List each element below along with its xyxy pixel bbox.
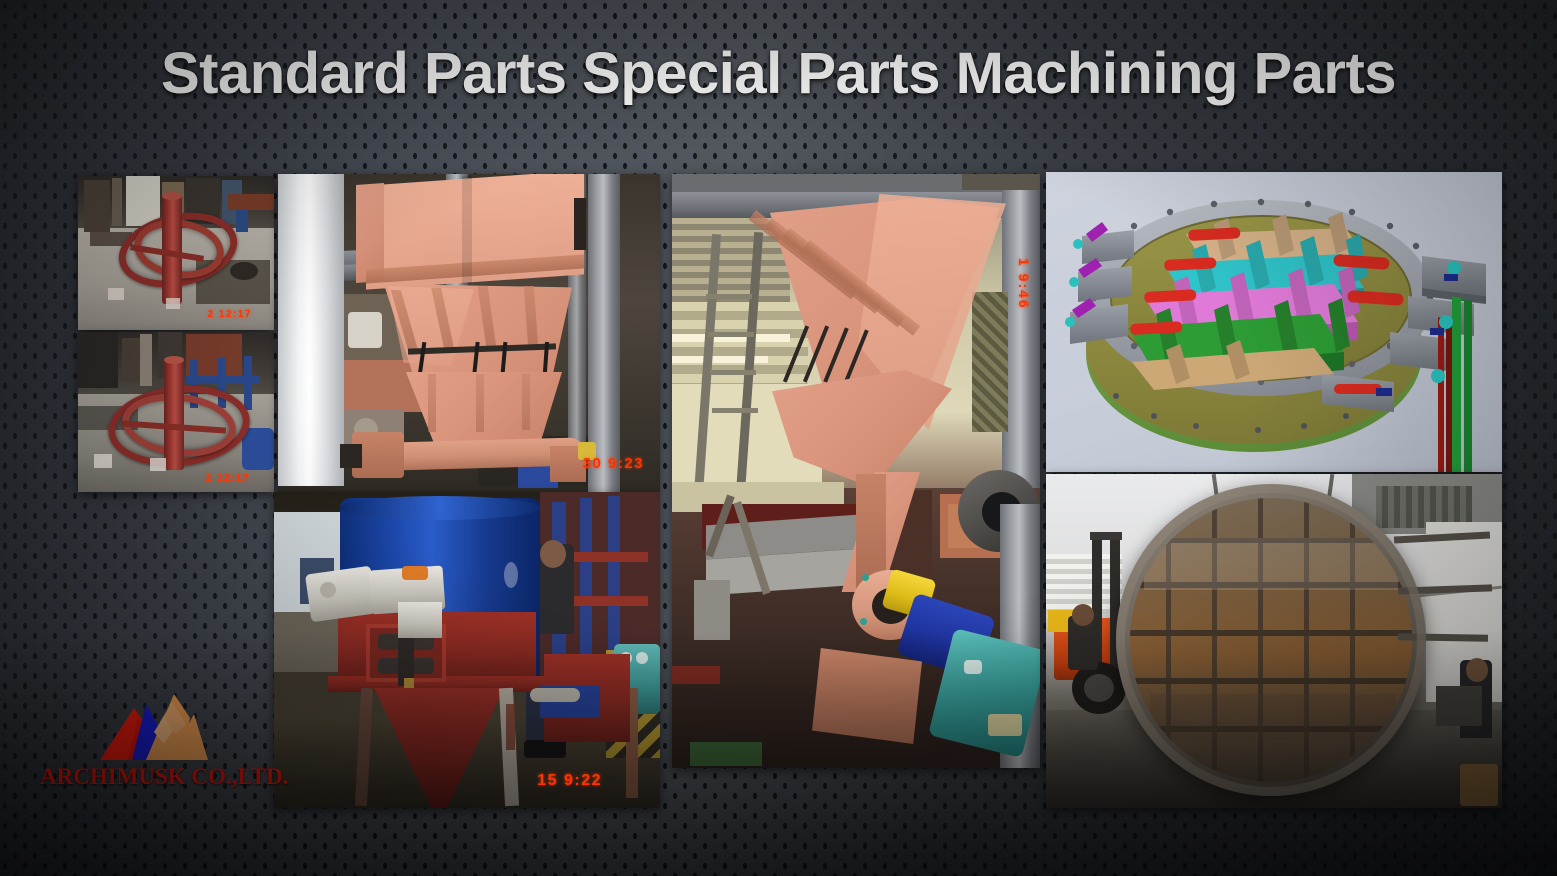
photo-content: 1 9:46 [672,174,1040,768]
cad-content [1046,172,1502,472]
company-name: ARCHIMUSK CO.,LTD. [40,764,272,790]
photo-date-stamp: 2 12:17 [206,473,250,484]
photo-content [1046,474,1502,808]
photo-content: 2 12:17 [78,176,274,330]
photo-panel-red-agitator-top[interactable]: 2 12:17 [78,176,274,330]
photo-content: 15 9:22 [274,492,660,808]
photo-date-stamp: 2 12:17 [208,309,252,320]
photo-panel-rusty-vessel-head[interactable] [1046,474,1502,808]
cad-assembly-svg [1046,172,1502,472]
photo-content: 2 12:17 [78,332,274,492]
company-logo[interactable]: ARCHIMUSK CO.,LTD. [40,692,272,804]
photo-date-stamp: 15 9:22 [537,772,602,790]
cad-panel-flange-assembly[interactable] [1046,172,1502,472]
page-title: Standard Parts Special Parts Machining P… [0,40,1557,107]
photo-date-stamp: 1 9:46 [1016,258,1032,310]
photo-panel-salmon-hopper-screw[interactable]: 30 9:23 [278,174,660,492]
mountain-logo-icon [98,692,210,762]
photo-content: 30 9:23 [278,174,660,492]
slide-background: Standard Parts Special Parts Machining P… [0,0,1557,876]
photo-panel-red-agitator-bottom[interactable]: 2 12:17 [78,332,274,492]
photo-panel-blue-tank-mixer[interactable]: 15 9:22 [274,492,660,808]
photo-date-stamp: 30 9:23 [583,455,644,472]
photo-panel-large-hopper-drive[interactable]: 1 9:46 [672,174,1040,768]
